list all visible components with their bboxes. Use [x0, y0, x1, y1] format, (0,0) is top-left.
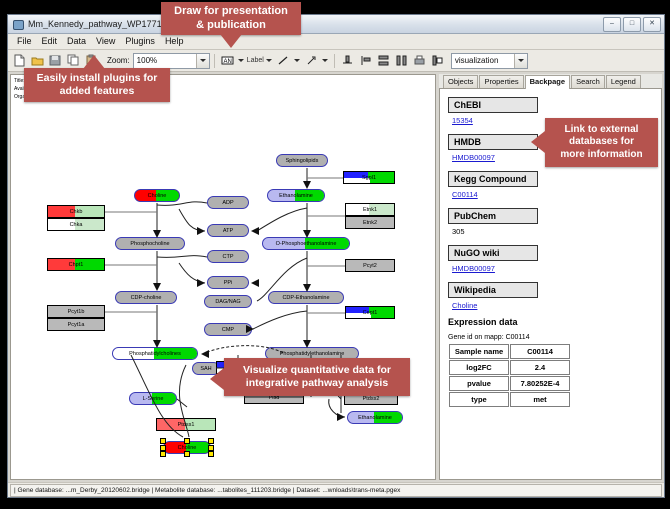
- node-label: Ptdss1: [178, 422, 195, 428]
- node-label: Etnk2: [363, 220, 377, 226]
- menu-bar: File Edit Data View Plugins Help: [8, 34, 664, 50]
- open-folder-icon[interactable]: [29, 52, 46, 69]
- node-label: CTP: [223, 254, 234, 260]
- resize-handle[interactable]: [184, 451, 190, 457]
- node-label: O-Phosphoethanolamine: [276, 241, 337, 247]
- node-label: PPi: [224, 280, 233, 286]
- node-label: Chkb: [70, 209, 83, 215]
- node-label: Cept1: [363, 310, 378, 316]
- menu-data[interactable]: Data: [62, 35, 91, 48]
- node-label: Etnk1: [363, 207, 377, 213]
- line-dropdown-arrow[interactable]: [293, 53, 302, 68]
- db-header: PubChem: [448, 208, 538, 224]
- node-label: Pcyt1a: [68, 322, 85, 328]
- db-header: HMDB: [448, 134, 538, 150]
- print-icon[interactable]: [411, 52, 428, 69]
- tab-search[interactable]: Search: [571, 75, 605, 88]
- callout-link-arrow-icon: [531, 131, 545, 153]
- table-cell-key: pvalue: [449, 376, 509, 391]
- align-top-icon[interactable]: [339, 52, 356, 69]
- window-controls: – □ ✕: [603, 17, 664, 32]
- db-header: Kegg Compound: [448, 171, 538, 187]
- node-label: Ethanolamine: [279, 193, 313, 199]
- layout-icon[interactable]: [429, 52, 446, 69]
- callout-visualize-arrow-icon: [210, 368, 224, 390]
- node-label: CDP-choline: [131, 295, 162, 301]
- status-text: | Gene database: ...m_Derby_20120602.bri…: [10, 484, 662, 497]
- gene-id-line: Gene id on mapp: C00114: [448, 334, 661, 341]
- db-header: Wikipedia: [448, 282, 538, 298]
- menu-plugins[interactable]: Plugins: [120, 35, 160, 48]
- table-cell-value: 7.80252E-4: [510, 376, 570, 391]
- tab-legend[interactable]: Legend: [606, 75, 641, 88]
- side-panel-tabs: ObjectsPropertiesBackpageSearchLegend: [439, 74, 662, 89]
- node-label: Choline: [148, 193, 167, 199]
- node-label: ATP: [223, 228, 233, 234]
- table-cell-key: Sample name: [449, 344, 509, 359]
- label-dropdown-arrow[interactable]: [265, 53, 274, 68]
- minimize-button[interactable]: –: [603, 17, 621, 32]
- node-label: ADP: [222, 200, 233, 206]
- toolbar-separator-2: [334, 54, 335, 68]
- new-file-icon[interactable]: [11, 52, 28, 69]
- label-tool-text[interactable]: Label: [247, 57, 264, 64]
- toolbar-separator: [214, 54, 215, 68]
- db-link[interactable]: C00114: [452, 190, 661, 199]
- status-bar: | Gene database: ...m_Derby_20120602.bri…: [8, 482, 664, 497]
- node-label: L-Serine: [143, 396, 164, 402]
- resize-handle[interactable]: [160, 445, 166, 451]
- table-row: Sample nameC00114: [449, 344, 570, 359]
- receptor-dropdown-arrow[interactable]: [321, 53, 330, 68]
- tab-backpage[interactable]: Backpage: [525, 75, 570, 89]
- table-cell-value: met: [510, 392, 570, 407]
- node-label: CMP: [222, 327, 234, 333]
- resize-handle[interactable]: [184, 438, 190, 444]
- svg-text:AN: AN: [223, 59, 231, 65]
- table-row: typemet: [449, 392, 570, 407]
- node-label: Pcyt1b: [68, 309, 85, 315]
- resize-handle[interactable]: [208, 451, 214, 457]
- db-link[interactable]: HMDB00097: [452, 264, 661, 273]
- maximize-button[interactable]: □: [623, 17, 641, 32]
- node-label: DAG/NAG: [215, 299, 240, 305]
- table-cell-value: 2.4: [510, 360, 570, 375]
- zoom-value: 100%: [137, 56, 157, 65]
- menu-edit[interactable]: Edit: [37, 35, 63, 48]
- tab-objects[interactable]: Objects: [443, 75, 478, 88]
- node-label: Pcyt2: [363, 263, 377, 269]
- zoom-label: Zoom:: [107, 56, 130, 65]
- copy-icon[interactable]: [65, 52, 82, 69]
- resize-handle[interactable]: [208, 445, 214, 451]
- callout-install-plugins: Easily install plugins foradded features: [24, 68, 170, 102]
- zoom-combo[interactable]: 100%: [133, 53, 210, 69]
- backpage-section-nugo-wiki: NuGO wikiHMDB00097: [448, 243, 661, 273]
- callout-external-links: Link to externaldatabases formore inform…: [545, 118, 658, 167]
- backpage-section-wikipedia: WikipediaCholine: [448, 280, 661, 310]
- table-row: log2FC2.4: [449, 360, 570, 375]
- table-cell-key: type: [449, 392, 509, 407]
- resize-handle[interactable]: [160, 438, 166, 444]
- node-label: Chpt1: [69, 262, 84, 268]
- resize-handle[interactable]: [160, 451, 166, 457]
- distribute-horizontal-icon[interactable]: [393, 52, 410, 69]
- node-label: Phosphocholine: [130, 241, 169, 247]
- expression-data-header: Expression data: [448, 317, 661, 327]
- callout-draw-presentation: Draw for presentation& publication: [161, 2, 301, 35]
- backpage-section-kegg-compound: Kegg CompoundC00114: [448, 169, 661, 199]
- menu-file[interactable]: File: [12, 35, 37, 48]
- node-label: Sphingolipids: [286, 158, 319, 164]
- line-tool-icon[interactable]: [275, 52, 292, 69]
- node-label: Sgpl1: [362, 175, 376, 181]
- datanode-dropdown-arrow[interactable]: [237, 53, 246, 68]
- node-label: Ethanolamine: [358, 415, 392, 421]
- db-link[interactable]: Choline: [452, 301, 661, 310]
- visualization-combo[interactable]: visualization: [451, 53, 528, 69]
- callout-plugins-arrow-icon: [83, 55, 105, 69]
- db-value: 305: [452, 227, 661, 236]
- table-cell-value: C00114: [510, 344, 570, 359]
- resize-handle[interactable]: [208, 438, 214, 444]
- pathway-canvas[interactable]: Title: Availa Organi: [10, 74, 436, 480]
- distribute-vertical-icon[interactable]: [375, 52, 392, 69]
- node-label: Ptdss2: [363, 396, 380, 402]
- table-row: pvalue7.80252E-4: [449, 376, 570, 391]
- save-icon[interactable]: [47, 52, 64, 69]
- receptor-tool-icon[interactable]: [303, 52, 320, 69]
- tab-properties[interactable]: Properties: [479, 75, 523, 88]
- align-left-icon[interactable]: [357, 52, 374, 69]
- node-label: Phosphatidylcholines: [129, 351, 181, 357]
- menu-help[interactable]: Help: [160, 35, 189, 48]
- db-header: NuGO wiki: [448, 245, 538, 261]
- table-cell-key: log2FC: [449, 360, 509, 375]
- node-label: CDP-Ethanolamine: [282, 295, 329, 301]
- chevron-down-icon[interactable]: [196, 54, 209, 68]
- title-bar: Mm_Kennedy_pathway_WP1771_45176.gpml – □…: [8, 15, 664, 34]
- close-button[interactable]: ✕: [643, 17, 661, 32]
- expression-table: Sample nameC00114log2FC2.4pvalue7.80252E…: [448, 343, 571, 408]
- chevron-down-icon-2[interactable]: [514, 54, 527, 68]
- callout-visualize-data: Visualize quantitative data forintegrati…: [224, 358, 410, 396]
- visualization-value: visualization: [455, 56, 499, 65]
- callout-top-arrow-icon: [220, 34, 242, 48]
- db-header: ChEBI: [448, 97, 538, 113]
- node-label: Phosphatidylethanolamine: [280, 351, 345, 357]
- app-icon: [12, 18, 24, 30]
- node-label: Choline: [178, 445, 197, 451]
- datanode-icon[interactable]: AN: [219, 52, 236, 69]
- menu-view[interactable]: View: [91, 35, 120, 48]
- node-label: Chka: [70, 222, 83, 228]
- backpage-section-pubchem: PubChem305: [448, 206, 661, 236]
